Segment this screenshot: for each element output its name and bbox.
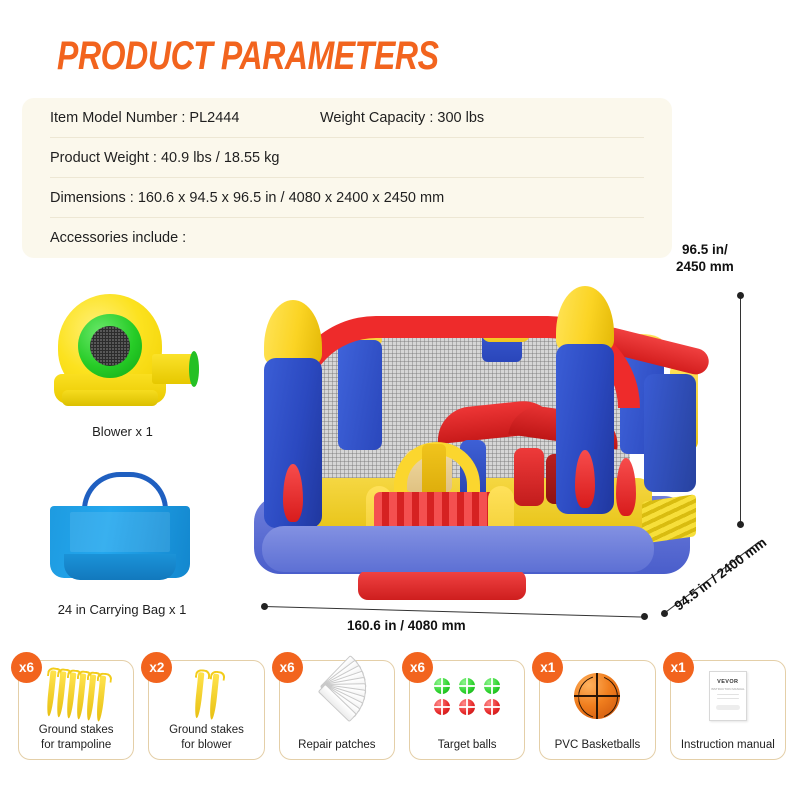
parameter-row: Dimensions : 160.6 x 94.5 x 96.5 in / 40…: [22, 178, 672, 218]
manual-subtitle: INSTRUCTION MANUAL: [711, 687, 745, 691]
side-panel-blue: [644, 374, 696, 492]
dimension-height-label: 96.5 in/ 2450 mm: [676, 242, 734, 276]
dimension-width-label: 160.6 in / 4080 mm: [347, 618, 466, 633]
manual-brand: VEVOR: [717, 679, 738, 685]
accessory-label: PVC Basketballs: [555, 738, 641, 752]
house-base-front: [262, 526, 654, 572]
accessory-card-ground-stakes-trampoline[interactable]: x6 Ground stakes for trampoline: [18, 660, 134, 760]
parameter-dimensions: Dimensions : 160.6 x 94.5 x 96.5 in / 40…: [50, 190, 444, 206]
dimension-height-line2: 2450 mm: [676, 259, 734, 276]
quantity-badge: x6: [11, 652, 42, 683]
tower-flame-far-right: [616, 458, 636, 516]
quantity-badge: x1: [663, 652, 694, 683]
accessory-label: Instruction manual: [681, 738, 775, 752]
parameter-weight-capacity: Weight Capacity : 300 lbs: [320, 110, 484, 126]
accessory-card-target-balls[interactable]: x6 Target balls: [409, 660, 525, 760]
product-parameters-page: PRODUCT PARAMETERS Item Model Number : P…: [0, 0, 800, 800]
accessories-card-row: x6 Ground stakes for trampoline x2 Groun…: [18, 660, 786, 766]
parameter-row: Item Model Number : PL2444 Weight Capaci…: [22, 98, 672, 138]
blower-caption: Blower x 1: [40, 424, 205, 439]
dimension-height-dot-bottom: [737, 521, 744, 528]
tower-tip-right: [556, 286, 614, 350]
dimension-depth-dot: [661, 610, 668, 617]
accessory-card-repair-patches[interactable]: x6 Repair patches: [279, 660, 395, 760]
accessory-card-ground-stakes-blower[interactable]: x2 Ground stakes for blower: [148, 660, 264, 760]
quantity-badge: x6: [402, 652, 433, 683]
accessory-card-pvc-basketballs[interactable]: x1 PVC Basketballs: [539, 660, 655, 760]
dimension-height-line1: 96.5 in/: [676, 242, 734, 259]
quantity-badge: x6: [272, 652, 303, 683]
interior-pillar-red: [514, 448, 544, 506]
blower-image: [40, 292, 205, 412]
parameter-row: Product Weight : 40.9 lbs / 18.55 kg: [22, 138, 672, 178]
bag-caption-wrap: 24 in Carrying Bag x 1: [22, 598, 222, 617]
accessory-label: Ground stakes for blower: [169, 723, 244, 752]
tower-tip-left: [264, 300, 322, 364]
accessory-label: Target balls: [438, 738, 497, 752]
dimension-height-dot-top: [737, 292, 744, 299]
blower-foot: [62, 390, 158, 406]
blower-caption-wrap: Blower x 1: [40, 420, 205, 439]
accessory-card-instruction-manual[interactable]: x1 VEVOR INSTRUCTION MANUAL Instruction …: [670, 660, 786, 760]
bag-inner-panel: [70, 512, 170, 552]
blower-grille-mesh: [90, 326, 130, 366]
parameter-product-weight: Product Weight : 40.9 lbs / 18.55 kg: [50, 150, 320, 166]
accessory-label: Ground stakes for trampoline: [39, 723, 114, 752]
parameters-panel: Item Model Number : PL2444 Weight Capaci…: [22, 98, 672, 258]
parameter-row: Accessories include :: [22, 218, 672, 258]
dimension-height-line: [740, 296, 741, 526]
blower-nozzle: [152, 354, 194, 384]
accessory-label: Repair patches: [298, 738, 375, 752]
carrying-bag-image: [42, 466, 202, 586]
page-title: PRODUCT PARAMETERS: [57, 36, 439, 76]
dimension-width-dot-left: [261, 603, 268, 610]
slide-landing-red: [358, 570, 526, 600]
dimension-width-dot-right: [641, 613, 648, 620]
bounce-house-image: [246, 282, 716, 612]
carrying-bag-caption: 24 in Carrying Bag x 1: [22, 602, 222, 617]
parameter-accessories-include: Accessories include :: [50, 230, 186, 246]
parameter-model-number: Item Model Number : PL2444: [50, 110, 320, 126]
bag-body: [50, 506, 190, 578]
